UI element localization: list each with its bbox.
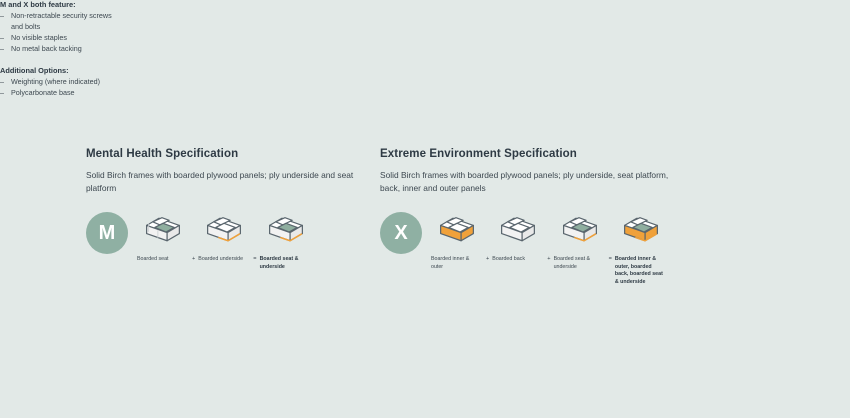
mental-health-chairs: Boarded seat + Boarded un — [137, 208, 316, 271]
infographic-page: Mental Health Specification Solid Birch … — [0, 0, 850, 418]
chair-item: Boarded underside — [198, 208, 250, 264]
chair-item: Boarded seat & underside — [554, 208, 606, 271]
list-item: – No metal back tacking — [0, 44, 118, 55]
operator-plus: + — [483, 256, 492, 262]
chair-label: Boarded inner & outer, boarded back, boa… — [615, 256, 663, 286]
chair-item: Boarded back — [492, 208, 544, 264]
list-item: – Weighting (where indicated) — [0, 77, 118, 88]
badge-m: M — [86, 212, 128, 254]
operator-equals: = — [606, 256, 615, 262]
list-item-label: Non-retractable security screws and bolt… — [11, 11, 112, 31]
notes-heading-both: M and X both feature: — [0, 0, 118, 9]
extreme-environment-description: Solid Birch frames with boarded plywood … — [380, 169, 670, 195]
armchair-icon — [615, 208, 667, 252]
operator-equals: = — [250, 256, 259, 262]
chair-item: Boarded seat & underside — [260, 208, 316, 271]
extreme-environment-chair-strip: X Boarded inner & outer + — [380, 208, 670, 286]
chair-label: Boarded seat — [137, 256, 185, 264]
notes-heading-options: Additional Options: — [0, 66, 118, 75]
badge-x: X — [380, 212, 422, 254]
dash-bullet: – — [0, 88, 4, 99]
notes-list-both: – Non-retractable security screws and bo… — [0, 11, 118, 55]
chair-item: Boarded inner & outer, boarded back, boa… — [615, 208, 671, 286]
operator-plus: + — [189, 256, 198, 262]
mental-health-section: Mental Health Specification Solid Birch … — [86, 148, 356, 271]
list-item-label: No visible staples — [11, 33, 67, 42]
page-title-extreme-environment: Extreme Environment Specification — [380, 148, 670, 160]
chair-item: Boarded seat — [137, 208, 189, 264]
list-item-label: Polycarbonate base — [11, 88, 75, 97]
dash-bullet: – — [0, 77, 4, 88]
dash-bullet: – — [0, 33, 4, 44]
armchair-icon — [554, 208, 606, 252]
notes-section: M and X both feature: – Non-retractable … — [0, 0, 118, 99]
armchair-icon — [137, 208, 189, 252]
mental-health-chair-strip: M Boarded seat + — [86, 208, 356, 271]
list-item: – No visible staples — [0, 33, 118, 44]
armchair-icon — [260, 208, 312, 252]
list-item: – Non-retractable security screws and bo… — [0, 11, 118, 33]
dash-bullet: – — [0, 11, 4, 22]
armchair-icon — [492, 208, 544, 252]
extreme-environment-chairs: Boarded inner & outer + Boarded back — [431, 208, 671, 286]
mental-health-description: Solid Birch frames with boarded plywood … — [86, 169, 356, 195]
armchair-icon — [198, 208, 250, 252]
chair-label: Boarded seat & underside — [260, 256, 308, 271]
list-item-label: No metal back tacking — [11, 44, 82, 53]
dash-bullet: – — [0, 44, 4, 55]
extreme-environment-section: Extreme Environment Specification Solid … — [380, 148, 670, 286]
operator-plus: + — [544, 256, 553, 262]
list-item: – Polycarbonate base — [0, 88, 118, 99]
notes-list-options: – Weighting (where indicated) – Polycarb… — [0, 77, 118, 99]
chair-label: Boarded back — [492, 256, 540, 264]
chair-item: Boarded inner & outer — [431, 208, 483, 271]
chair-label: Boarded seat & underside — [554, 256, 602, 271]
list-item-label: Weighting (where indicated) — [11, 77, 100, 86]
chair-label: Boarded inner & outer — [431, 256, 479, 271]
armchair-icon — [431, 208, 483, 252]
page-title-mental-health: Mental Health Specification — [86, 148, 356, 160]
chair-label: Boarded underside — [198, 256, 246, 264]
